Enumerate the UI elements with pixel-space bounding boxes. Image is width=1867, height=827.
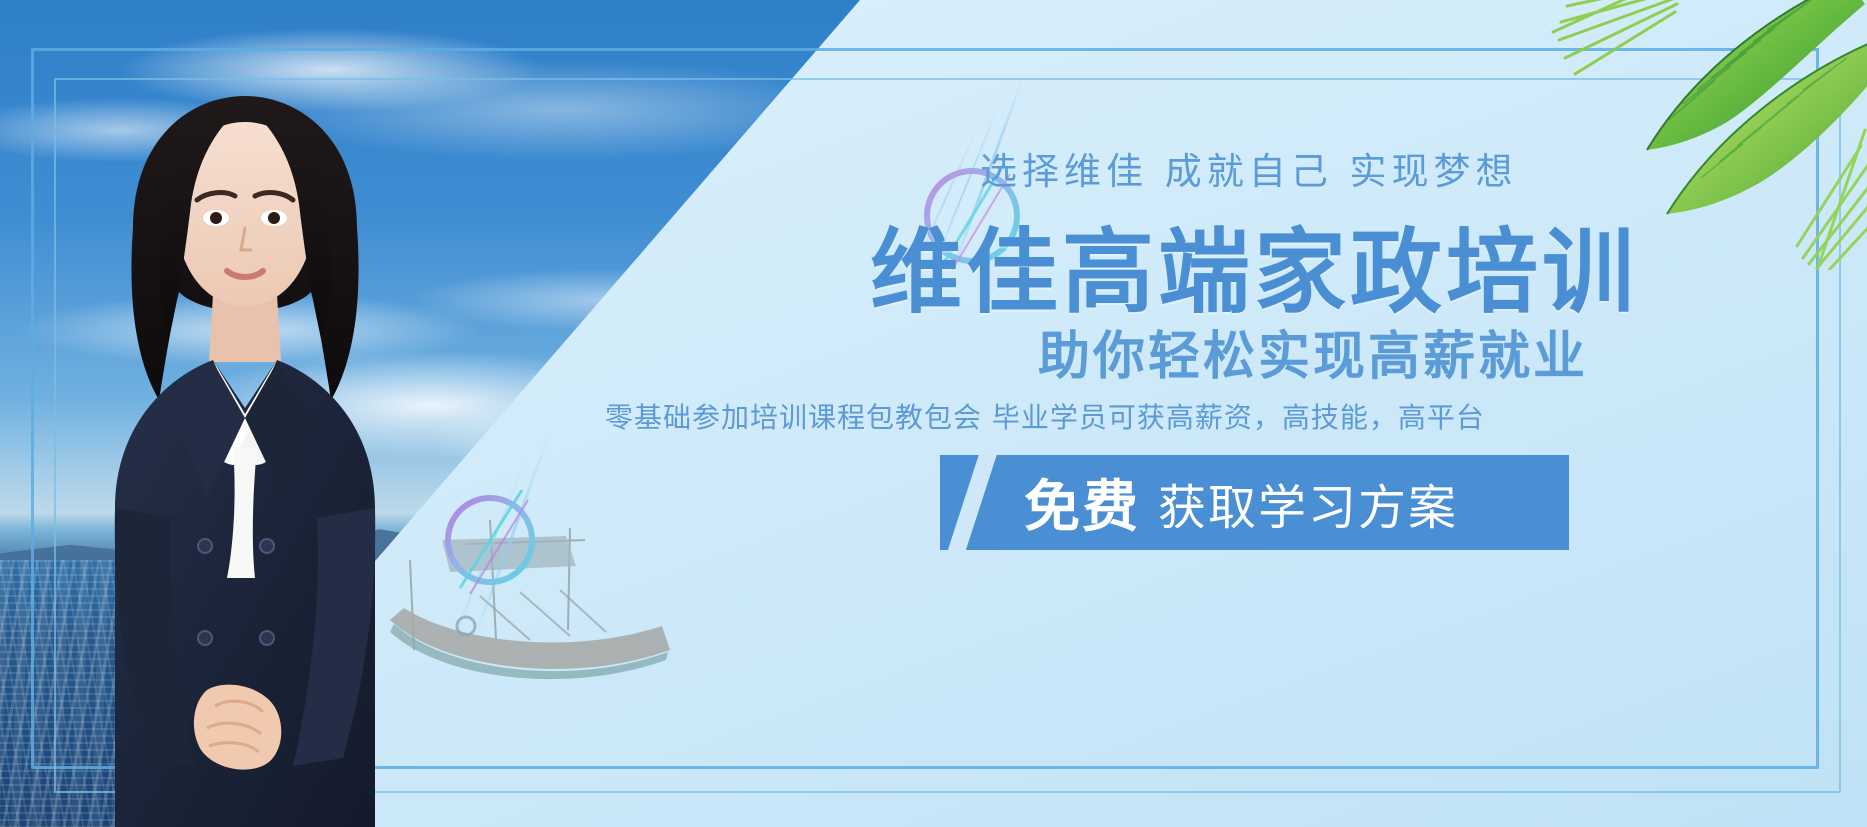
free-plan-cta-button[interactable]: 免费 获取学习方案 — [940, 455, 1569, 550]
cta-label: 获取学习方案 — [1158, 468, 1458, 538]
gradient-circle-icon — [430, 470, 550, 610]
slash-accent-icon — [943, 455, 998, 550]
banner-tagline: 选择维佳 成就自己 实现梦想 — [980, 141, 1518, 195]
promo-banner: 选择维佳 成就自己 实现梦想 维佳高端家政培训 助你轻松实现高薪就业 零基础参加… — [0, 0, 1867, 827]
banner-subheadline: 助你轻松实现高薪就业 — [1038, 314, 1588, 389]
cta-emphasis-label: 免费 — [1024, 462, 1140, 543]
banner-headline: 维佳高端家政培训 — [870, 198, 1638, 331]
businesswoman-portrait — [55, 78, 435, 827]
banner-description: 零基础参加培训课程包教包会 毕业学员可获高薪资，高技能，高平台 — [605, 396, 1485, 436]
banner-content: 选择维佳 成就自己 实现梦想 维佳高端家政培训 助你轻松实现高薪就业 零基础参加… — [860, 0, 1867, 827]
